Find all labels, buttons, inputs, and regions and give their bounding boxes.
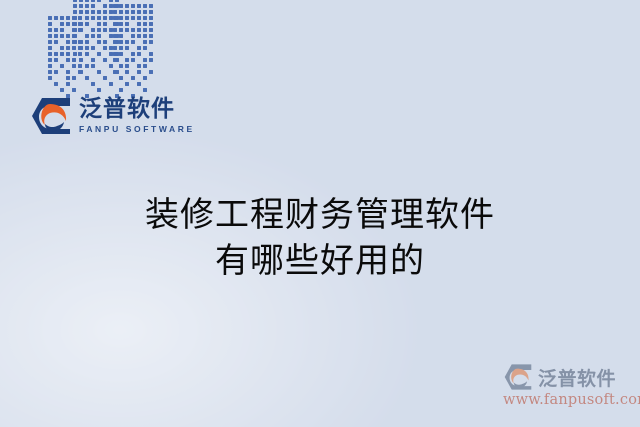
pixel-block (119, 22, 123, 26)
pixel-row (113, 28, 153, 32)
pixel-block (109, 0, 113, 2)
pixel-block (48, 22, 52, 26)
pixel-block (103, 76, 107, 80)
pixel-block (85, 0, 89, 2)
pixel-row (113, 16, 153, 20)
pixel-block (119, 88, 123, 92)
pixel-block (54, 16, 58, 20)
pixel-block (79, 70, 83, 74)
pixel-block (113, 34, 117, 38)
pixel-block (143, 76, 147, 80)
pixel-block (73, 28, 77, 32)
pixel-row (113, 70, 153, 74)
pixel-block (143, 88, 147, 92)
site-watermark: 泛普软件 www.fanpusoft.com (503, 363, 639, 408)
pixel-block (79, 4, 83, 8)
pixel-block (103, 46, 107, 50)
pixel-block (54, 82, 58, 86)
pixel-block (125, 64, 129, 68)
pixel-row (113, 40, 153, 44)
pixel-block (85, 76, 89, 80)
pixel-block (131, 58, 135, 62)
pixel-block (85, 64, 89, 68)
pixel-block (149, 10, 153, 14)
pixel-block (66, 70, 70, 74)
fanpu-logo-wordmark: 泛普软件 FANPU SOFTWARE (79, 98, 195, 134)
pixel-block (143, 16, 147, 20)
pixel-row (113, 10, 153, 14)
pixel-row (113, 46, 153, 50)
pixel-block (131, 10, 135, 14)
pixel-block (137, 22, 141, 26)
pixel-block (91, 58, 95, 62)
pixel-block (54, 52, 58, 56)
pixel-block (143, 10, 147, 14)
pixel-block (60, 16, 64, 20)
pixel-block (85, 4, 89, 8)
pixel-block (66, 16, 70, 20)
pixel-block (143, 34, 147, 38)
pixel-block (149, 16, 153, 20)
pixel-row (113, 88, 153, 92)
pixel-block (97, 0, 101, 2)
watermark-logo-mark (503, 363, 533, 391)
pixel-block (125, 70, 129, 74)
pixel-block (66, 22, 70, 26)
pixel-block (79, 22, 83, 26)
pixel-block (91, 64, 95, 68)
pixel-block (97, 52, 101, 56)
fanpu-logo: 泛普软件 FANPU SOFTWARE (30, 96, 195, 136)
right-tower (113, 4, 153, 100)
pixel-row (113, 58, 153, 62)
pixel-block (97, 10, 101, 14)
pixel-block (85, 16, 89, 20)
pixel-row (73, 0, 119, 2)
pixel-block (91, 34, 95, 38)
pixel-block (103, 22, 107, 26)
pixel-block (125, 82, 129, 86)
pixel-block (137, 10, 141, 14)
pixel-block (119, 16, 123, 20)
pixel-block (97, 34, 101, 38)
pixel-block (85, 40, 89, 44)
pixel-block (149, 58, 153, 62)
pixel-block (73, 34, 77, 38)
pixel-row (113, 52, 153, 56)
pixel-row (113, 76, 153, 80)
pixel-block (125, 22, 129, 26)
pixel-block (48, 70, 52, 74)
pixel-block (60, 64, 64, 68)
pixel-block (85, 34, 89, 38)
pixel-block (131, 16, 135, 20)
pixel-block (137, 28, 141, 32)
pixel-block (73, 52, 77, 56)
pixel-block (149, 22, 153, 26)
pixel-block (103, 28, 107, 32)
watermark-brand-name: 泛普软件 (538, 364, 616, 391)
pixel-block (103, 16, 107, 20)
pixel-block (137, 4, 141, 8)
pixel-block (119, 52, 123, 56)
pixel-block (66, 40, 70, 44)
pixel-block (48, 34, 52, 38)
brand-name-en: FANPU SOFTWARE (79, 125, 195, 134)
pixel-block (125, 58, 129, 62)
pixel-block (66, 34, 70, 38)
pixel-block (60, 88, 64, 92)
pixel-block (119, 40, 123, 44)
pixel-block (149, 70, 153, 74)
pixel-block (48, 52, 52, 56)
pixel-block (149, 40, 153, 44)
pixel-block (48, 58, 52, 62)
pixel-block (48, 46, 52, 50)
pixel-block (131, 52, 135, 56)
pixel-block (66, 58, 70, 62)
pixel-block (137, 16, 141, 20)
pixel-block (60, 34, 64, 38)
pixel-block (125, 16, 129, 20)
pixel-block (85, 10, 89, 14)
pixel-row (113, 22, 153, 26)
pixel-block (113, 46, 117, 50)
pixel-block (137, 64, 141, 68)
pixel-block (54, 40, 58, 44)
pixel-block (91, 46, 95, 50)
pixel-block (66, 76, 70, 80)
pixel-block (113, 16, 117, 20)
pixel-block (113, 58, 117, 62)
pixel-row (113, 82, 153, 86)
pixel-block (113, 10, 117, 14)
pixel-block (97, 70, 101, 74)
pixel-block (143, 40, 147, 44)
pixel-block (97, 88, 101, 92)
pixel-block (125, 46, 129, 50)
pixel-row (113, 4, 153, 8)
promo-banner: 泛普软件 FANPU SOFTWARE 装修工程财务管理软件 有哪些好用的 泛普… (0, 0, 640, 427)
pixel-block (137, 70, 141, 74)
pixel-block (113, 22, 117, 26)
pixel-row (113, 64, 153, 68)
pixel-block (48, 40, 52, 44)
pixel-block (79, 10, 83, 14)
pixel-block (143, 4, 147, 8)
pixel-block (79, 40, 83, 44)
pixel-block (149, 34, 153, 38)
pixel-block (125, 40, 129, 44)
pixel-block (137, 82, 141, 86)
pixel-block (97, 16, 101, 20)
pixel-block (103, 10, 107, 14)
pixel-block (85, 52, 89, 56)
pixel-block (143, 22, 147, 26)
pixel-block (97, 40, 101, 44)
pixel-block (97, 22, 101, 26)
page-title: 装修工程财务管理软件 有哪些好用的 (0, 192, 640, 284)
pixel-block (143, 64, 147, 68)
pixel-block (66, 52, 70, 56)
pixel-block (85, 46, 89, 50)
pixel-block (60, 46, 64, 50)
pixel-block (131, 28, 135, 32)
pixel-block (73, 4, 77, 8)
pixel-block (79, 58, 83, 62)
pixel-block (113, 40, 117, 44)
pixel-block (66, 46, 70, 50)
pixel-block (60, 52, 64, 56)
pixel-block (91, 0, 95, 2)
pixel-block (85, 22, 89, 26)
pixel-block (113, 28, 117, 32)
pixel-block (119, 46, 123, 50)
pixel-block (131, 40, 135, 44)
pixel-block (131, 4, 135, 8)
pixel-block (91, 16, 95, 20)
pixel-block (91, 10, 95, 14)
brand-name-cn: 泛普软件 (79, 98, 195, 121)
pixel-block (103, 40, 107, 44)
pixel-block (91, 28, 95, 32)
pixel-block (79, 28, 83, 32)
pixel-block (60, 28, 64, 32)
pixel-block (131, 34, 135, 38)
pixel-block (143, 58, 147, 62)
pixel-block (119, 28, 123, 32)
pixel-block (115, 0, 119, 2)
pixel-block (79, 0, 83, 2)
pixel-block (125, 4, 129, 8)
pixel-block (54, 58, 58, 62)
headline-line-1: 装修工程财务管理软件 (0, 192, 640, 238)
pixel-block (54, 34, 58, 38)
pixel-block (73, 22, 77, 26)
pixel-block (143, 28, 147, 32)
pixel-block (113, 52, 117, 56)
pixel-block (60, 22, 64, 26)
pixel-block (91, 82, 95, 86)
pixel-block (97, 28, 101, 32)
pixel-block (119, 64, 123, 68)
pixel-block (48, 64, 52, 68)
pixel-block (48, 16, 52, 20)
pixel-block (73, 40, 77, 44)
pixel-block (48, 28, 52, 32)
pixel-block (137, 46, 141, 50)
pixel-block (119, 34, 123, 38)
pixel-block (119, 4, 123, 8)
pixel-block (143, 46, 147, 50)
pixel-block (54, 70, 58, 74)
pixel-block (137, 34, 141, 38)
pixel-block (73, 16, 77, 20)
pixel-block (113, 70, 117, 74)
pixel-block (73, 0, 77, 2)
watermark-url: www.fanpusoft.com (503, 392, 639, 408)
pixel-block (103, 4, 107, 8)
watermark-logo-row: 泛普软件 (503, 363, 639, 391)
pixel-block (131, 76, 135, 80)
pixel-block (54, 28, 58, 32)
pixel-block (125, 10, 129, 14)
pixel-block (119, 76, 123, 80)
pixel-block (137, 52, 141, 56)
pixel-block (73, 10, 77, 14)
pixel-block (125, 28, 129, 32)
pixelated-city-skyline (45, 4, 155, 100)
pixel-block (119, 10, 123, 14)
pixel-block (149, 52, 153, 56)
pixel-block (103, 58, 107, 62)
pixel-block (149, 4, 153, 8)
fanpu-logo-mark (30, 96, 72, 136)
pixel-block (113, 4, 117, 8)
headline-line-2: 有哪些好用的 (0, 238, 640, 284)
pixel-block (79, 46, 83, 50)
pixel-row (113, 34, 153, 38)
pixel-block (149, 28, 153, 32)
pixel-block (66, 82, 70, 86)
pixel-block (91, 4, 95, 8)
pixel-block (48, 76, 52, 80)
